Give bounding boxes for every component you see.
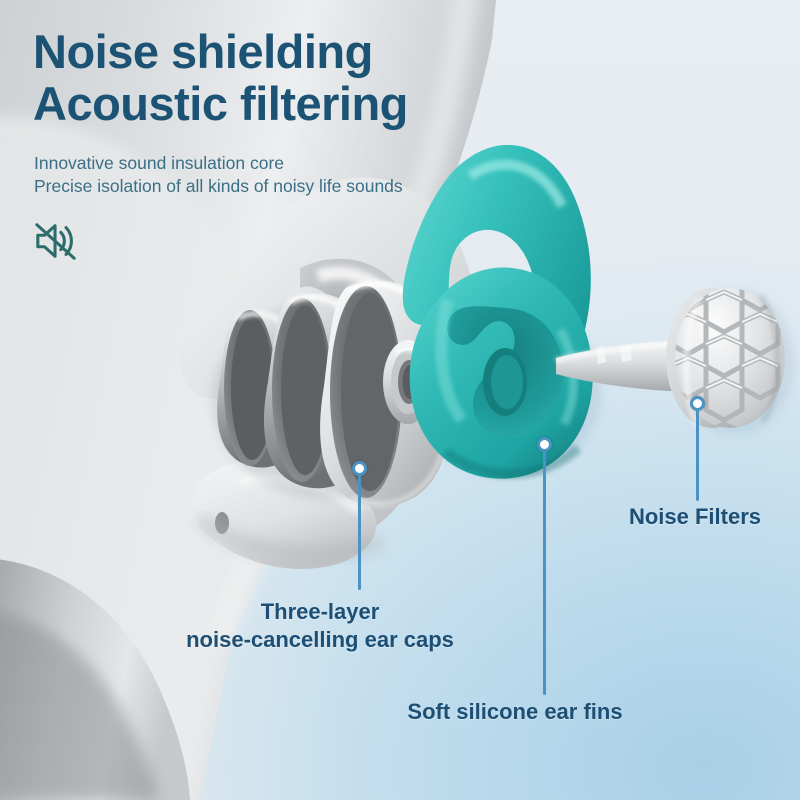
noise-filter: [556, 270, 794, 464]
callout-leader-ear-fins: [543, 450, 546, 695]
callout-label-noise-filters: Noise Filters: [590, 503, 800, 531]
mute-speaker-icon: [33, 219, 79, 263]
callout-label-ear-fins: Soft silicone ear fins: [355, 698, 675, 726]
callout-leader-noise-filters: [696, 409, 699, 501]
callout-label-ear-caps: Three-layer noise-cancelling ear caps: [120, 598, 520, 654]
soft-silicone-ear-fin: [403, 145, 602, 479]
product-graphic: Noise shielding Acoustic filtering Innov…: [0, 0, 800, 800]
page-subtitle: Innovative sound insulation core Precise…: [34, 152, 403, 198]
callout-leader-ear-caps: [358, 474, 361, 590]
page-title: Noise shielding Acoustic filtering: [33, 26, 408, 130]
